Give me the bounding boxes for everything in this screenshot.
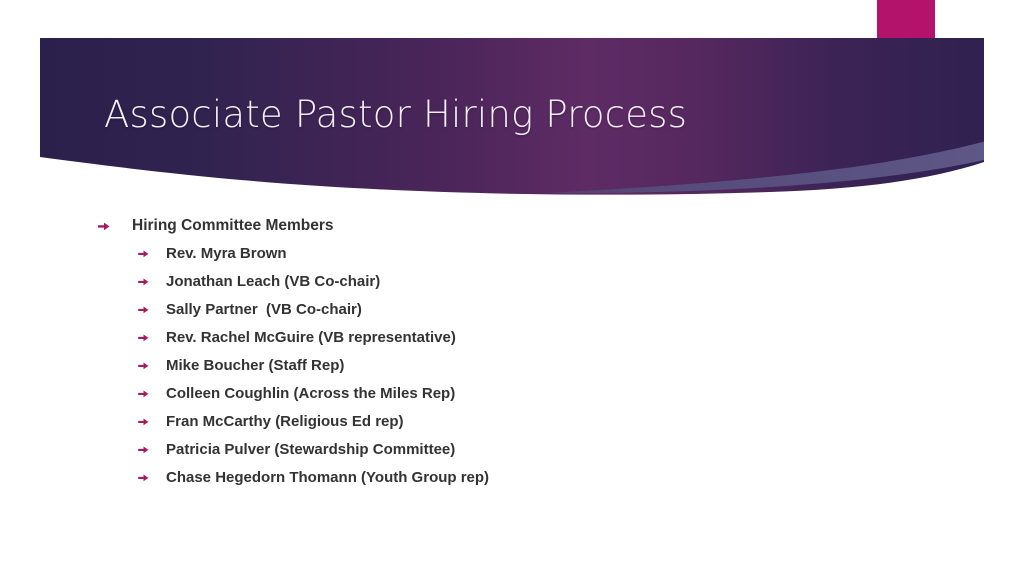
- presentation-slide: Associate Pastor Hiring Process Hiring C…: [0, 0, 1024, 576]
- list-item-label: Sally Partner (VB Co-chair): [166, 296, 362, 324]
- arrow-right-bullet-icon: [138, 324, 166, 352]
- list-item-label: Patricia Pulver (Stewardship Committee): [166, 436, 455, 464]
- list-item-label: Rev. Myra Brown: [166, 240, 287, 268]
- list-item: Hiring Committee Members: [0, 212, 1024, 240]
- slide-body: Hiring Committee Members Rev. Myra Brown…: [0, 212, 1024, 492]
- list-item: Chase Hegedorn Thomann (Youth Group rep): [0, 464, 1024, 492]
- arrow-right-bullet-icon: [138, 352, 166, 380]
- arrow-right-bullet-icon: [98, 212, 132, 240]
- list-item-label: Colleen Coughlin (Across the Miles Rep): [166, 380, 455, 408]
- list-item: Rev. Rachel McGuire (VB representative): [0, 324, 1024, 352]
- list-item: Patricia Pulver (Stewardship Committee): [0, 436, 1024, 464]
- list-item-label: Fran McCarthy (Religious Ed rep): [166, 408, 404, 436]
- arrow-right-bullet-icon: [138, 408, 166, 436]
- list-item-label: Chase Hegedorn Thomann (Youth Group rep): [166, 464, 489, 492]
- list-item-label: Rev. Rachel McGuire (VB representative): [166, 324, 456, 352]
- arrow-right-bullet-icon: [138, 296, 166, 324]
- arrow-right-bullet-icon: [138, 436, 166, 464]
- list-item: Rev. Myra Brown: [0, 240, 1024, 268]
- list-item-label: Mike Boucher (Staff Rep): [166, 352, 344, 380]
- list-item: Colleen Coughlin (Across the Miles Rep): [0, 380, 1024, 408]
- list-item: Mike Boucher (Staff Rep): [0, 352, 1024, 380]
- arrow-right-bullet-icon: [138, 240, 166, 268]
- list-item: Sally Partner (VB Co-chair): [0, 296, 1024, 324]
- arrow-right-bullet-icon: [138, 464, 166, 492]
- list-item-label: Jonathan Leach (VB Co-chair): [166, 268, 380, 296]
- list-item: Fran McCarthy (Religious Ed rep): [0, 408, 1024, 436]
- arrow-right-bullet-icon: [138, 380, 166, 408]
- list-item-label: Hiring Committee Members: [132, 212, 334, 240]
- list-item: Jonathan Leach (VB Co-chair): [0, 268, 1024, 296]
- header-banner: Associate Pastor Hiring Process: [0, 0, 1024, 200]
- arrow-right-bullet-icon: [138, 268, 166, 296]
- bullet-list: Hiring Committee Members Rev. Myra Brown…: [0, 212, 1024, 492]
